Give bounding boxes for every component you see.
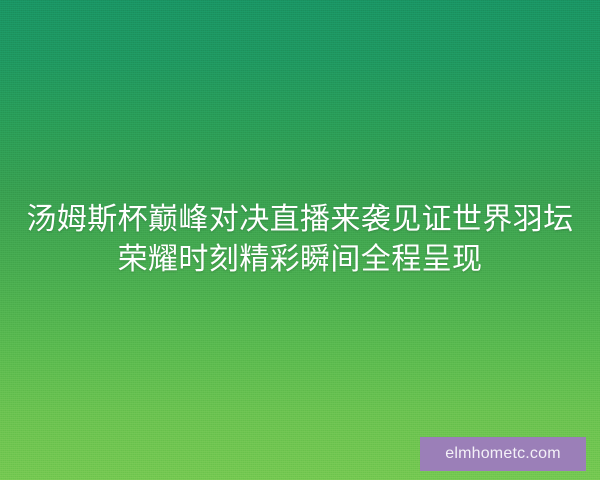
site-watermark-badge: elmhometc.com: [420, 437, 586, 471]
promo-banner: 汤姆斯杯巅峰对决直播来袭见证世界羽坛 荣耀时刻精彩瞬间全程呈现 elmhomet…: [0, 0, 600, 480]
site-watermark-label: elmhometc.com: [445, 446, 561, 462]
banner-headline: 汤姆斯杯巅峰对决直播来袭见证世界羽坛 荣耀时刻精彩瞬间全程呈现: [0, 200, 600, 280]
